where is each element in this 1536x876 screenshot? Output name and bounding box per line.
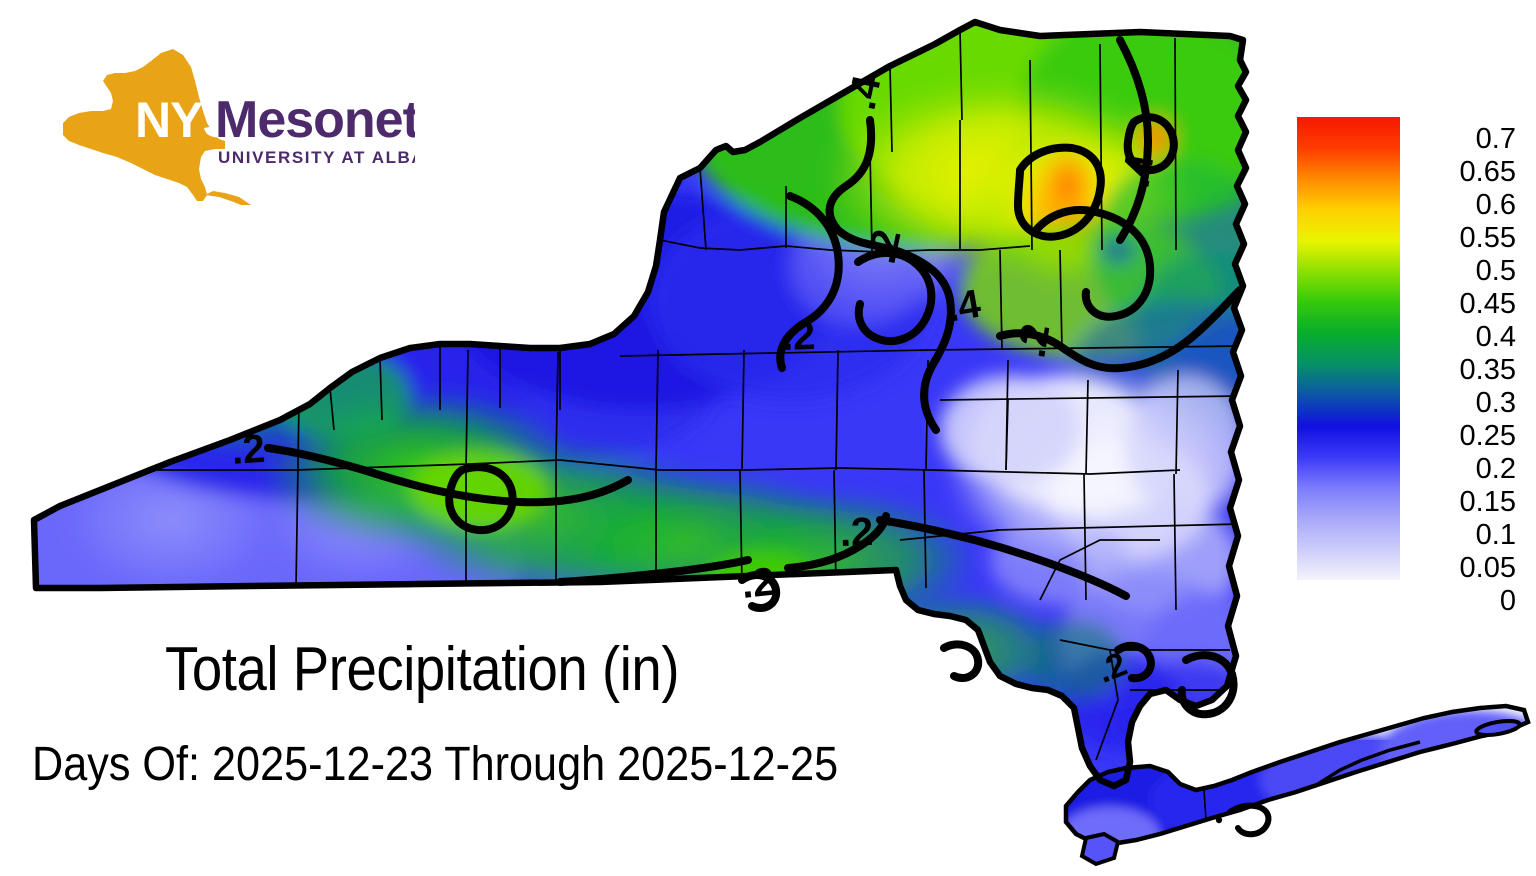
contour-0.4-loop-c [944, 644, 978, 678]
colorbar-tick: 0.1 [1476, 521, 1516, 550]
contour-label: .2 [230, 427, 266, 473]
colorbar-tick: 0 [1500, 587, 1516, 616]
map-title: Total Precipitation (in) [165, 634, 679, 705]
colorbar-tick: 0.05 [1460, 554, 1516, 583]
contour-label: .2 [839, 510, 874, 555]
colorbar-tick-labels: 0.7 0.65 0.6 0.55 0.5 0.45 0.4 0.35 0.3 … [1404, 117, 1516, 617]
colorbar-tick: 0.5 [1476, 257, 1516, 286]
precipitation-map-page: NYS Mesonet UNIVERSITY AT ALBANY [0, 0, 1536, 876]
colorbar-tick: 0.7 [1476, 125, 1516, 154]
colorbar-tick: 0.6 [1476, 191, 1516, 220]
colorbar-gradient [1297, 117, 1400, 580]
contour-label: .2 [781, 314, 816, 359]
colorbar-tick: 0.65 [1460, 158, 1516, 187]
colorbar-tick: 0.15 [1460, 488, 1516, 517]
contour-li-dot [1216, 817, 1222, 823]
colorbar-tick: 0.35 [1460, 356, 1516, 385]
colorbar-tick: 0.2 [1476, 455, 1516, 484]
colorbar-tick: 0.45 [1460, 290, 1516, 319]
colorbar-tick: 0.3 [1476, 389, 1516, 418]
colorbar-tick: 0.25 [1460, 422, 1516, 451]
precipitation-colorbar [1297, 117, 1400, 580]
colorbar-tick: 0.55 [1460, 224, 1516, 253]
colorbar-tick: 0.4 [1476, 323, 1516, 352]
map-subtitle: Days Of: 2025-12-23 Through 2025-12-25 [32, 737, 838, 792]
contour-li-0.2 [1230, 806, 1268, 835]
contour-label: .2 [739, 560, 777, 607]
staten-island [1082, 834, 1118, 864]
